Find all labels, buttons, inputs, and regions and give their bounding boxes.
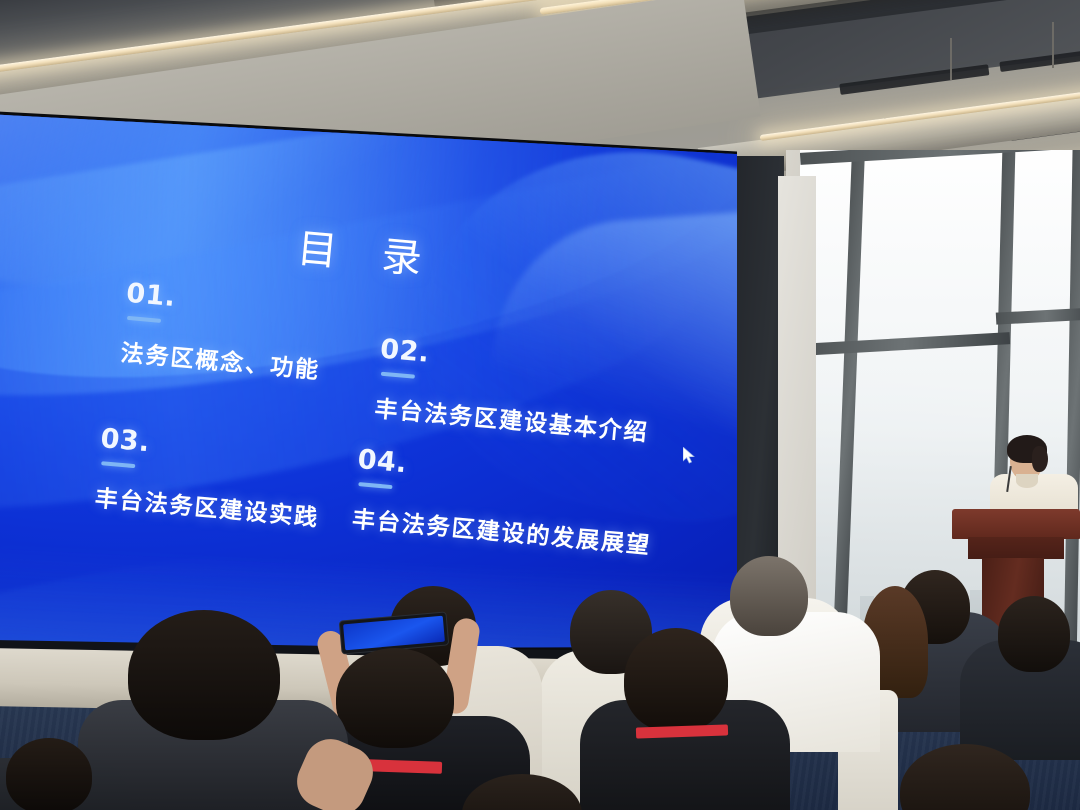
- presenter: [988, 440, 1080, 520]
- presenter-collar: [1016, 474, 1038, 488]
- presenter-hair: [1032, 446, 1048, 472]
- slide-content: 目 录 01. 法务区概念、功能 02. 丰台法务区建设基本介绍 03. 丰台法…: [0, 100, 734, 652]
- presentation-screen[interactable]: 目 录 01. 法务区概念、功能 02. 丰台法务区建设基本介绍 03. 丰台法…: [0, 100, 737, 652]
- ceiling-hanger: [1052, 22, 1054, 68]
- toc-label: 丰台法务区建设基本介绍: [373, 389, 650, 447]
- toc-item-02[interactable]: 02. 丰台法务区建设基本介绍: [373, 334, 655, 448]
- toc-underline: [381, 372, 415, 379]
- toc-number: 02.: [379, 334, 656, 389]
- ceiling-hanger: [950, 38, 952, 80]
- toc-label: 法务区概念、功能: [119, 334, 321, 386]
- toc-item-01[interactable]: 01. 法务区概念、功能: [119, 278, 327, 385]
- toc-underline: [127, 316, 161, 323]
- podium-neck: [968, 537, 1064, 559]
- podium-top: [952, 509, 1080, 539]
- toc-item-03[interactable]: 03. 丰台法务区建设实践: [94, 423, 327, 533]
- toc-label: 丰台法务区建设实践: [94, 479, 321, 533]
- toc-label: 丰台法务区建设的发展展望: [351, 500, 653, 561]
- toc-item-04[interactable]: 04. 丰台法务区建设的发展展望: [351, 444, 658, 560]
- toc-underline: [358, 482, 392, 489]
- slide-title: 目 录: [295, 216, 441, 286]
- conference-room-photo: 目 录 01. 法务区概念、功能 02. 丰台法务区建设基本介绍 03. 丰台法…: [0, 0, 1080, 810]
- phone-screen: [343, 616, 445, 651]
- mouse-pointer-icon: [683, 447, 697, 465]
- toc-underline: [101, 461, 135, 468]
- toc-number: 04.: [356, 444, 658, 502]
